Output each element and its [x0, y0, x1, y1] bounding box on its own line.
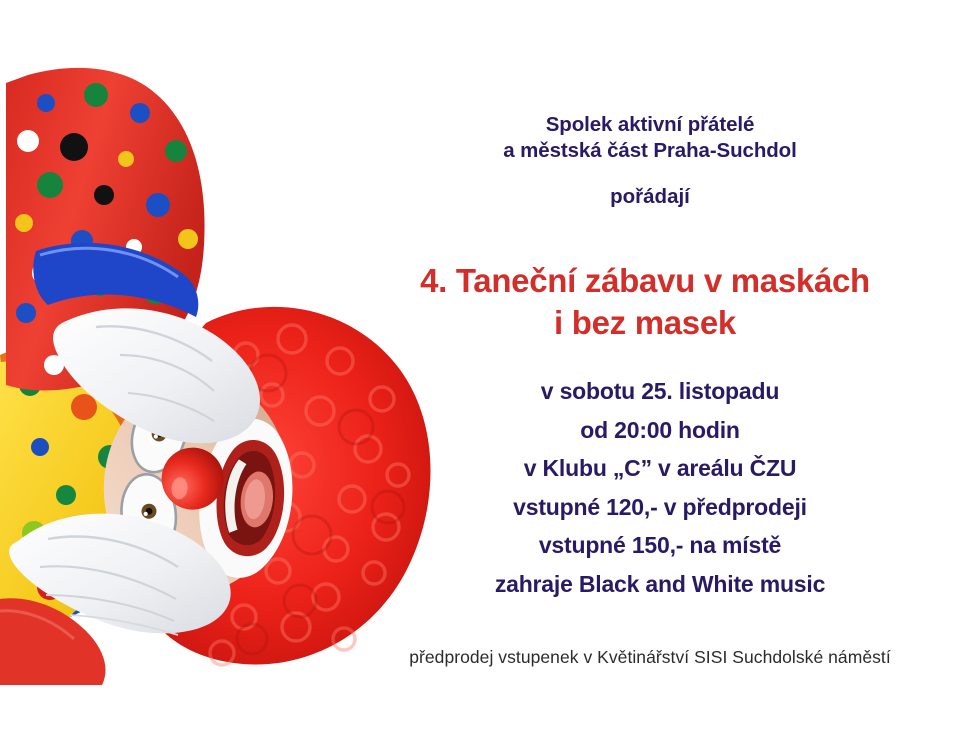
detail-price-door: vstupné 150,- na místě	[350, 526, 960, 565]
poster-text-column: Spolek aktivní přátelé a městská část Pr…	[340, 0, 960, 748]
organizer-verb: pořádají	[340, 185, 960, 209]
detail-venue: v Klubu „C” v areálu ČZU	[350, 449, 960, 488]
detail-date: v sobotu 25. listopadu	[350, 372, 960, 411]
poster-canvas: Spolek aktivní přátelé a městská část Pr…	[0, 0, 960, 748]
detail-time: od 20:00 hodin	[350, 411, 960, 450]
organizer-line-1: Spolek aktivní přátelé	[340, 112, 960, 138]
event-title-line-1: 4. Taneční zábavu v maskách	[330, 260, 960, 302]
event-details: v sobotu 25. listopadu od 20:00 hodin v …	[350, 372, 960, 603]
organizer-block: Spolek aktivní přátelé a městská část Pr…	[340, 112, 960, 164]
detail-price-presale: vstupné 120,- v předprodeji	[350, 488, 960, 527]
event-title-line-2: i bez masek	[330, 302, 960, 344]
event-title: 4. Taneční zábavu v maskách i bez masek	[330, 260, 960, 344]
organizer-line-2: a městská část Praha-Suchdol	[340, 138, 960, 164]
ticket-presale-note: předprodej vstupenek v Květinářství SISI…	[340, 647, 960, 668]
detail-band: zahraje Black and White music	[350, 565, 960, 604]
